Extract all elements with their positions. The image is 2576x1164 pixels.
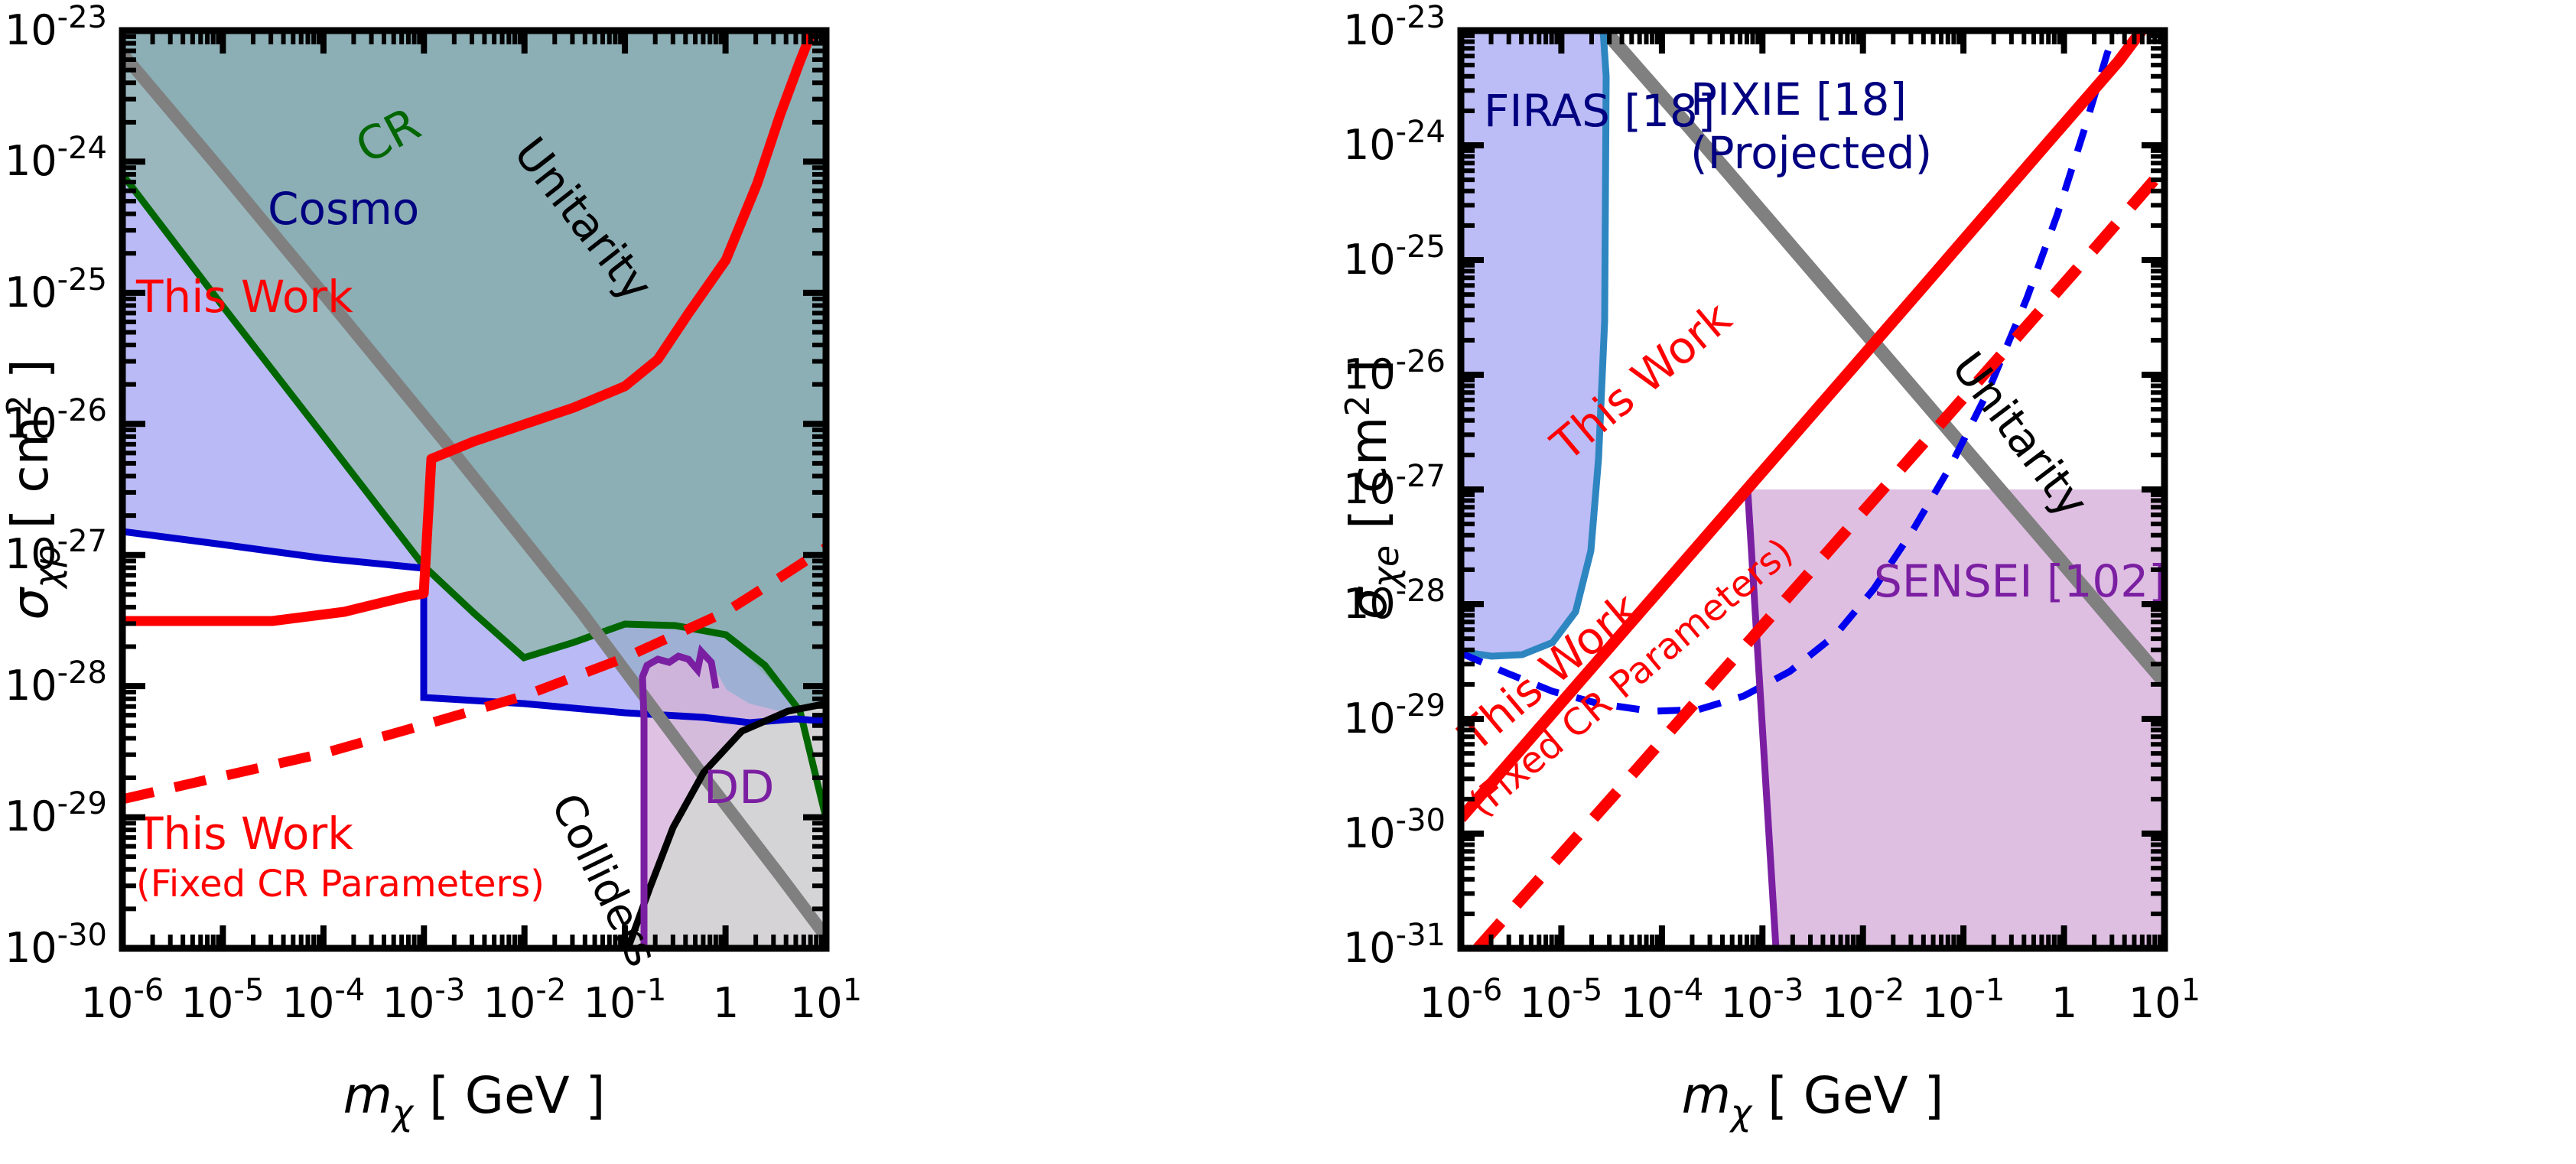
svg-text:10-29: 10-29 [5,786,107,840]
left-ytick-exp-2: -25 [57,262,107,298]
right-x-ticklabels: 10-6 10-5 10-4 10-3 10-2 10-1 1 101 [1420,973,2200,1027]
right-xtick-exp-3: -3 [1773,973,1804,1008]
left-xtick-label-6: 1 [713,979,739,1027]
right-ytick-exp-7: -30 [1396,803,1446,838]
right-ytick-exp-6: -29 [1396,688,1446,723]
svg-text:10-1: 10-1 [584,973,667,1027]
svg-text:10-6: 10-6 [1420,973,1503,1027]
svg-text:mχ [ GeV ]: mχ [ GeV ] [343,1066,606,1133]
svg-text:10-1: 10-1 [1922,973,2005,1027]
annotation-sensei: SENSEI [102] [1874,555,2166,607]
svg-text:10-3: 10-3 [382,973,466,1027]
right-ytick-exp-4: -27 [1396,459,1446,494]
right-xtick-label-6: 1 [2051,979,2077,1027]
annotation-this-work-fixed-sub: (Fixed CR Parameters) [136,863,545,906]
right-panel: FIRAS [18] PIXIE [18] (Projected) This W… [1293,0,2576,1164]
right-panel-svg: FIRAS [18] PIXIE [18] (Projected) This W… [1293,0,2576,1164]
left-xtick-exp-1: -5 [233,973,264,1008]
annotation-this-work: This Work [135,271,353,323]
svg-text:10-24: 10-24 [1343,115,1446,169]
svg-text:10-2: 10-2 [1822,973,1905,1027]
right-ytick-exp-2: -25 [1396,229,1446,265]
left-panel-svg: CR Cosmo Unitarity This Work This Work (… [0,0,1300,1164]
left-x-ticklabels: 10-6 10-5 10-4 10-3 10-2 10-1 1 101 [81,973,862,1027]
left-ytick-exp-1: -24 [57,131,107,166]
svg-text:mχ [ GeV ]: mχ [ GeV ] [1682,1066,1944,1133]
left-ytick-exp-0: -23 [57,0,107,35]
left-xaxis-title: mχ [ GeV ] [343,1066,606,1133]
svg-text:10-2: 10-2 [483,973,567,1027]
svg-text:10-30: 10-30 [1343,803,1446,857]
left-ytick-exp-5: -28 [57,655,107,691]
exclusion-plot-figure: CR Cosmo Unitarity This Work This Work (… [0,0,2576,1164]
annotation-dd: DD [704,761,774,814]
svg-text:10-29: 10-29 [1343,688,1446,743]
left-ytick-exp-3: -26 [57,393,107,428]
svg-text:101: 101 [2129,973,2200,1027]
svg-text:10-4: 10-4 [1621,973,1704,1027]
annotation-cosmo: Cosmo [268,183,419,235]
right-xtick-exp-1: -5 [1572,973,1602,1008]
left-xtick-exp-2: -4 [334,973,365,1008]
svg-text:10-23: 10-23 [5,0,107,54]
left-ytick-exp-7: -30 [57,918,107,953]
right-xtick-exp-5: -1 [1974,973,2005,1008]
svg-text:10-5: 10-5 [181,973,265,1027]
svg-text:10-25: 10-25 [1343,229,1446,284]
svg-text:10-30: 10-30 [5,918,107,972]
svg-text:10-4: 10-4 [282,973,366,1027]
svg-text:10-31: 10-31 [1343,918,1446,972]
svg-text:101: 101 [790,973,862,1027]
left-xtick-exp-5: -1 [636,973,666,1008]
svg-text:10-6: 10-6 [81,973,164,1027]
left-xtick-exp-4: -2 [535,973,566,1008]
annotation-pixie-projected: (Projected) [1690,127,1932,179]
left-ytick-exp-6: -29 [57,786,107,821]
svg-text:10-28: 10-28 [5,655,107,710]
right-xtick-exp-2: -4 [1673,973,1703,1008]
svg-text:10-3: 10-3 [1721,973,1804,1027]
right-ytick-exp-1: -24 [1396,115,1446,150]
right-ytick-exp-8: -31 [1396,918,1446,953]
svg-text:10-5: 10-5 [1520,973,1603,1027]
right-xtick-exp-7: 1 [2181,973,2200,1008]
left-xtick-exp-3: -3 [434,973,465,1008]
right-xaxis-title: mχ [ GeV ] [1682,1066,1944,1133]
right-ytick-exp-3: -26 [1396,344,1446,379]
annotation-pixie: PIXIE [18] [1690,73,1907,125]
annotation-this-work-fixed: This Work [135,808,353,860]
left-panel: CR Cosmo Unitarity This Work This Work (… [0,0,1300,1164]
right-xtick-exp-0: -6 [1472,973,1502,1008]
svg-text:10-23: 10-23 [1343,0,1446,54]
right-ytick-exp-0: -23 [1396,0,1446,35]
svg-text:10-24: 10-24 [5,131,107,185]
left-xtick-exp-0: -6 [133,973,164,1008]
left-xtick-exp-7: 1 [843,973,862,1008]
right-xtick-exp-4: -2 [1874,973,1904,1008]
annotation-firas: FIRAS [18] [1484,85,1715,137]
svg-text:10-25: 10-25 [5,262,107,317]
